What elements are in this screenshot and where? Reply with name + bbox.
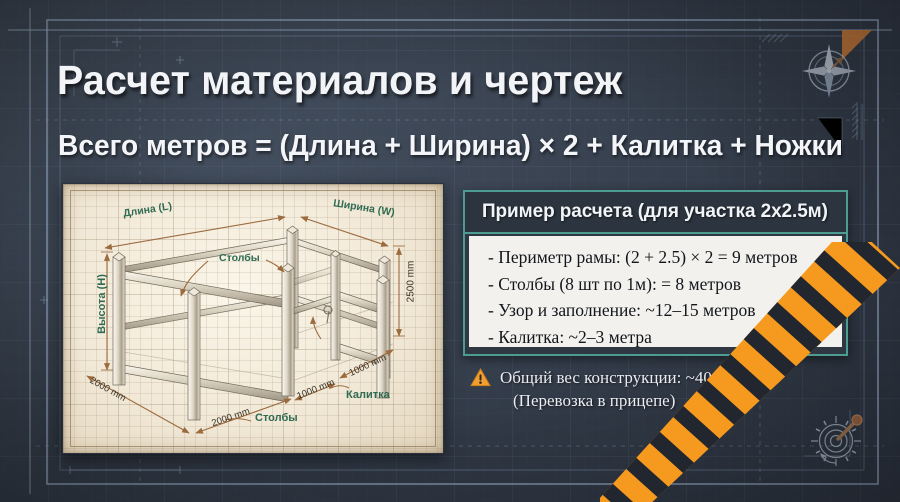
gear-target-icon bbox=[811, 415, 862, 466]
warning-line-1: Общий вес конструкции: ~40–60 кг bbox=[500, 366, 757, 389]
corner-triangle-icon bbox=[842, 30, 872, 60]
label-posts-top: Столбы bbox=[219, 252, 260, 264]
fence-frame-isometric-drawing bbox=[63, 184, 443, 453]
example-item: - Периметр рамы: (2 + 2.5) × 2 = 9 метро… bbox=[488, 244, 842, 271]
example-item: - Калитка: ~2–3 метра bbox=[488, 324, 842, 351]
page-title: Расчет материалов и чертеж bbox=[57, 57, 622, 104]
example-panel-body: - Периметр рамы: (2 + 2.5) × 2 = 9 метро… bbox=[469, 236, 842, 347]
label-gate: Калитка bbox=[346, 389, 390, 401]
blueprint-drawing: Длина (L) Ширина (W) Высота (H) 2500 mm … bbox=[62, 183, 444, 454]
example-panel-header: Пример расчета (для участка 2х2.5м) bbox=[465, 192, 846, 234]
example-item: - Узор и заполнение: ~12–15 метров bbox=[488, 297, 842, 324]
example-calculation-panel: Пример расчета (для участка 2х2.5м) - Пе… bbox=[463, 190, 848, 356]
formula-text: Всего метров = (Длина + Ширина) × 2 + Ка… bbox=[58, 130, 843, 163]
weight-warning-note: Общий вес конструкции: ~40–60 кг (Перево… bbox=[470, 366, 870, 412]
dimension-height-right: 2500 mm bbox=[406, 252, 417, 312]
label-height: Высота (H) bbox=[96, 259, 108, 349]
warning-line-2: (Перевозка в прицепе) bbox=[500, 389, 757, 412]
warning-triangle-icon bbox=[470, 368, 491, 387]
label-posts-bottom: Столбы bbox=[255, 412, 298, 424]
example-item: - Столбы (8 шт по 1м): = 8 метров bbox=[488, 271, 842, 298]
slide-root: Расчет материалов и чертеж Всего метров … bbox=[0, 0, 900, 502]
